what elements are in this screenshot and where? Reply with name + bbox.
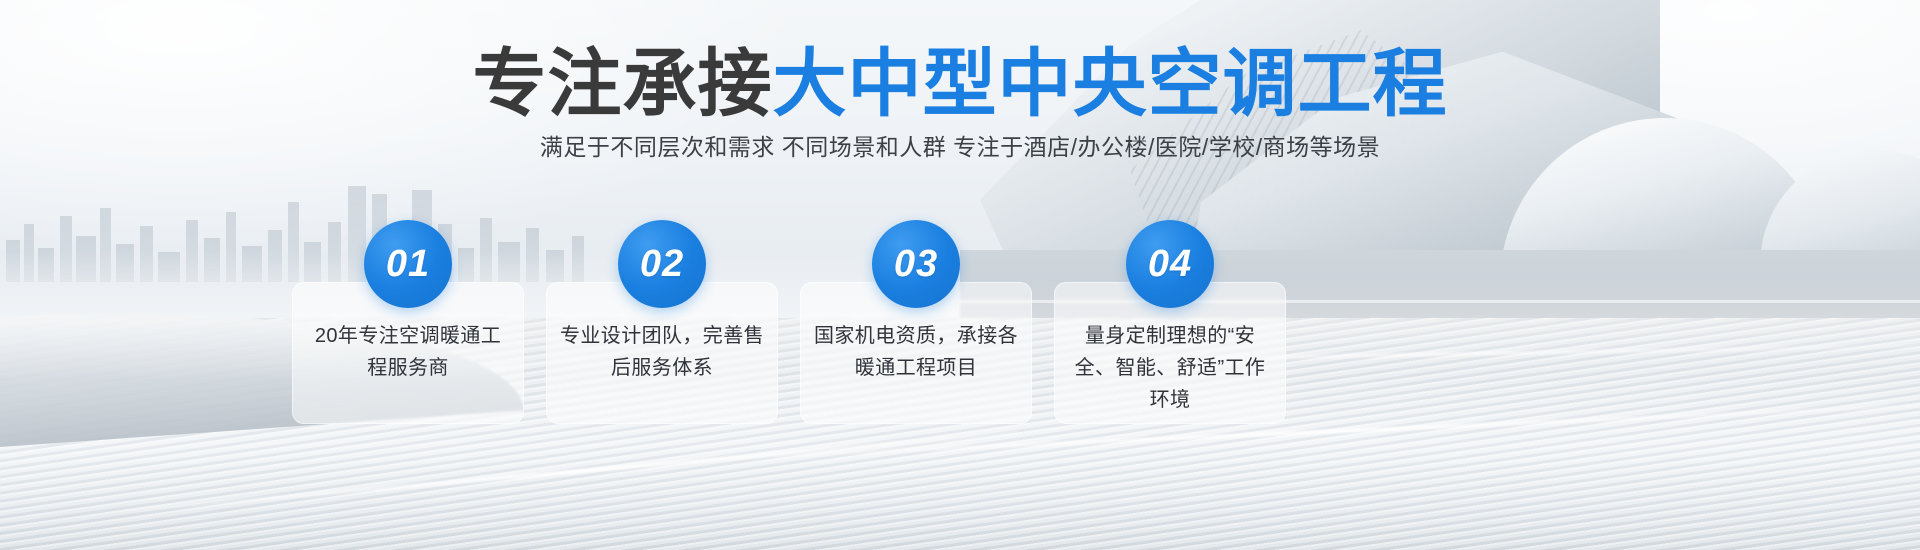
feature-card-number: 01 bbox=[386, 243, 430, 286]
page-subtitle: 满足于不同层次和需求 不同场景和人群 专注于酒店/办公楼/医院/学校/商场等场景 bbox=[0, 130, 1920, 164]
headline-dark-text: 专注承接 bbox=[473, 42, 773, 125]
feature-card-text: 量身定制理想的“安全、智能、舒适”工作环境 bbox=[1068, 320, 1272, 416]
feature-card-badge: 01 bbox=[364, 220, 452, 308]
feature-card-text: 国家机电资质，承接各暖通工程项目 bbox=[814, 320, 1018, 384]
feature-card-badge: 04 bbox=[1126, 220, 1214, 308]
feature-card-number: 04 bbox=[1148, 243, 1192, 286]
hero-banner: 专注承接大中型中央空调工程 满足于不同层次和需求 不同场景和人群 专注于酒店/办… bbox=[0, 0, 1920, 550]
feature-card[interactable]: 04 量身定制理想的“安全、智能、舒适”工作环境 bbox=[1054, 282, 1286, 424]
page-title: 专注承接大中型中央空调工程 bbox=[0, 42, 1920, 126]
feature-card[interactable]: 02 专业设计团队，完善售后服务体系 bbox=[546, 282, 778, 424]
feature-card-text: 专业设计团队，完善售后服务体系 bbox=[560, 320, 764, 384]
feature-card-badge: 03 bbox=[872, 220, 960, 308]
feature-card[interactable]: 01 20年专注空调暖通工程服务商 bbox=[292, 282, 524, 424]
feature-card[interactable]: 03 国家机电资质，承接各暖通工程项目 bbox=[800, 282, 1032, 424]
feature-card-list: 01 20年专注空调暖通工程服务商 02 专业设计团队，完善售后服务体系 03 … bbox=[292, 282, 1632, 432]
feature-card-number: 02 bbox=[640, 243, 684, 286]
feature-card-number: 03 bbox=[894, 243, 938, 286]
feature-card-text: 20年专注空调暖通工程服务商 bbox=[306, 320, 510, 384]
feature-card-badge: 02 bbox=[618, 220, 706, 308]
headline-accent-text: 大中型中央空调工程 bbox=[773, 42, 1448, 125]
